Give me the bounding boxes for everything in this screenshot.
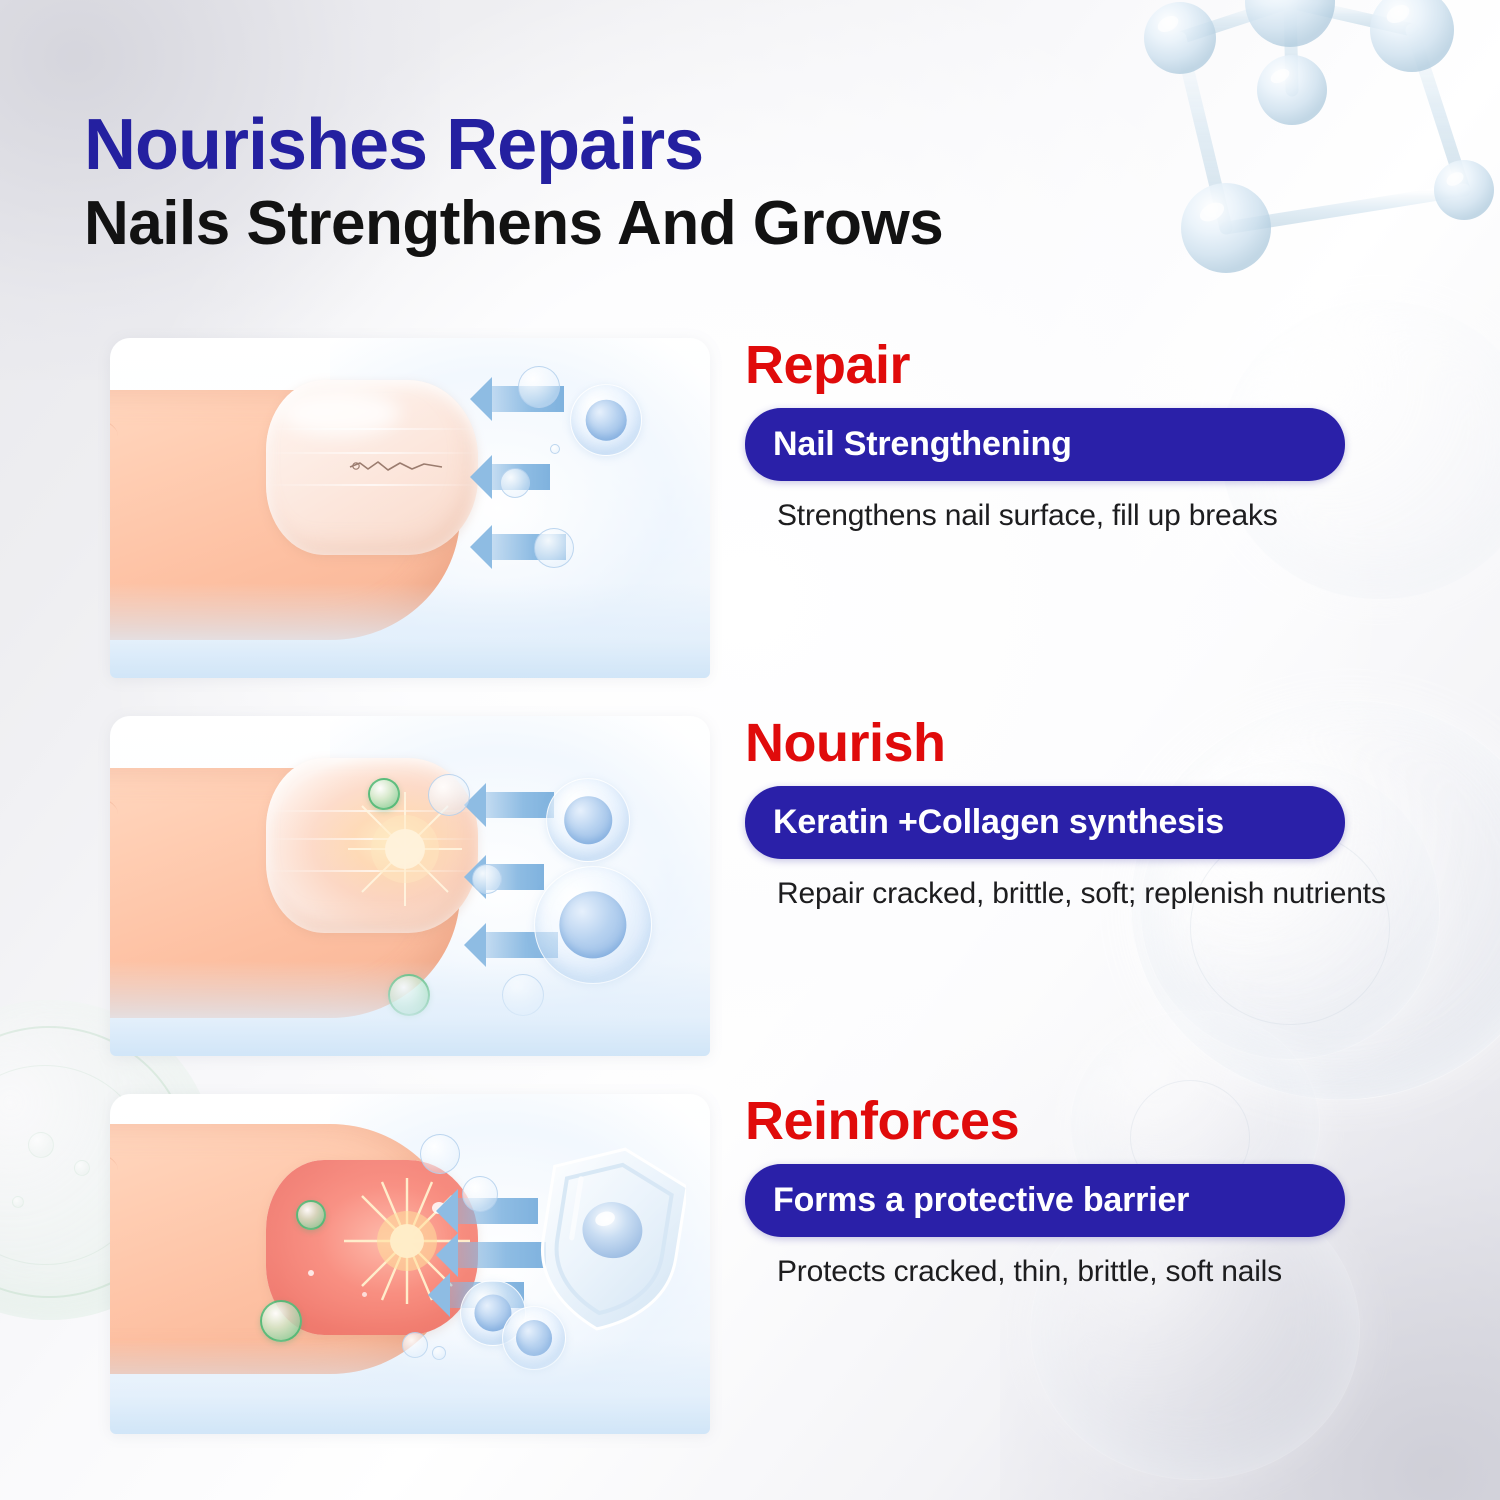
molecule-bubble bbox=[534, 528, 574, 568]
knuckle-crease bbox=[110, 1150, 118, 1190]
card-floor-light bbox=[110, 583, 710, 678]
shield-icon bbox=[536, 1144, 686, 1334]
nail-speck bbox=[362, 1292, 367, 1297]
molecule-bubble bbox=[500, 468, 530, 498]
feature-kicker: Nourish bbox=[745, 716, 1445, 770]
nail-streak bbox=[266, 452, 478, 454]
knuckle-crease bbox=[110, 794, 118, 834]
page-headline: Nourishes Repairs Nails Strengthens And … bbox=[84, 108, 1264, 258]
keratin-capsule-icon bbox=[296, 1200, 326, 1230]
feature-description: Strengthens nail surface, fill up breaks bbox=[745, 497, 1445, 535]
arrow-left-icon bbox=[486, 792, 554, 818]
nail-plate bbox=[266, 380, 478, 555]
nail-streak bbox=[266, 484, 478, 486]
molecule-bubble bbox=[550, 444, 560, 454]
card-floor-light bbox=[110, 961, 710, 1056]
feature-text-reinforces: Reinforces Forms a protective barrier Pr… bbox=[745, 1094, 1445, 1291]
card-floor-light bbox=[110, 1339, 710, 1434]
feature-pill-badge[interactable]: Forms a protective barrier bbox=[745, 1164, 1345, 1237]
feature-description: Protects cracked, thin, brittle, soft na… bbox=[745, 1253, 1445, 1291]
feature-row-repair: Repair Nail Strengthening Strengthens na… bbox=[0, 338, 1500, 682]
feature-kicker: Reinforces bbox=[745, 1094, 1445, 1148]
illustration-card-reinforces bbox=[110, 1094, 710, 1434]
molecule-bubble bbox=[462, 1176, 498, 1212]
feature-kicker: Repair bbox=[745, 338, 1445, 392]
headline-line-1: Nourishes Repairs bbox=[84, 108, 1264, 183]
feature-text-nourish: Nourish Keratin +Collagen synthesis Repa… bbox=[745, 716, 1445, 913]
feature-pill-badge[interactable]: Nail Strengthening bbox=[745, 408, 1345, 481]
knuckle-crease bbox=[110, 416, 118, 456]
feature-pill-badge[interactable]: Keratin +Collagen synthesis bbox=[745, 786, 1345, 859]
illustration-card-nourish bbox=[110, 716, 710, 1056]
collagen-capsule-icon bbox=[260, 1300, 302, 1342]
molecule-bubble bbox=[420, 1134, 460, 1174]
arrow-left-icon bbox=[458, 1242, 546, 1268]
feature-row-nourish: Nourish Keratin +Collagen synthesis Repa… bbox=[0, 716, 1500, 1060]
serum-droplet bbox=[570, 384, 642, 456]
molecule-bubble bbox=[428, 774, 470, 816]
molecule-bubble bbox=[472, 864, 502, 894]
headline-line-2: Nails Strengthens And Grows bbox=[84, 189, 1264, 258]
keratin-capsule-icon bbox=[368, 778, 400, 810]
illustration-card-repair bbox=[110, 338, 710, 678]
nail-streak bbox=[266, 428, 478, 430]
feature-description: Repair cracked, brittle, soft; replenish… bbox=[745, 875, 1445, 913]
nail-speck bbox=[308, 1270, 314, 1276]
nail-crack-icon bbox=[348, 458, 444, 474]
feature-row-reinforces: Reinforces Forms a protective barrier Pr… bbox=[0, 1094, 1500, 1438]
serum-droplet bbox=[546, 778, 630, 862]
feature-text-repair: Repair Nail Strengthening Strengthens na… bbox=[745, 338, 1445, 535]
molecule-bubble bbox=[518, 366, 560, 408]
